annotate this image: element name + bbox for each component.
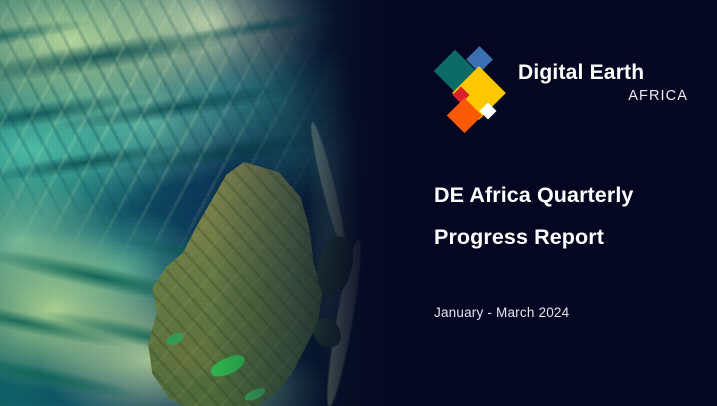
page-title-line-1: DE Africa Quarterly: [434, 175, 706, 217]
logo-title: Digital Earth: [518, 62, 694, 84]
logo-diamond-mark: [434, 48, 506, 132]
report-period: January - March 2024: [434, 305, 706, 320]
logo-subtitle: AFRICA: [518, 88, 694, 104]
digital-earth-africa-logo: Digital Earth AFRICA: [434, 48, 694, 136]
page-title-line-2: Progress Report: [434, 217, 706, 259]
page-title: DE Africa Quarterly Progress Report: [434, 175, 706, 259]
title-slide: Digital Earth AFRICA DE Africa Quarterly…: [0, 0, 717, 406]
content-panel: Digital Earth AFRICA DE Africa Quarterly…: [406, 0, 717, 406]
satellite-image-panel: [0, 0, 406, 406]
panel-edge-feather: [0, 0, 406, 406]
logo-wordmark: Digital Earth AFRICA: [518, 62, 694, 104]
